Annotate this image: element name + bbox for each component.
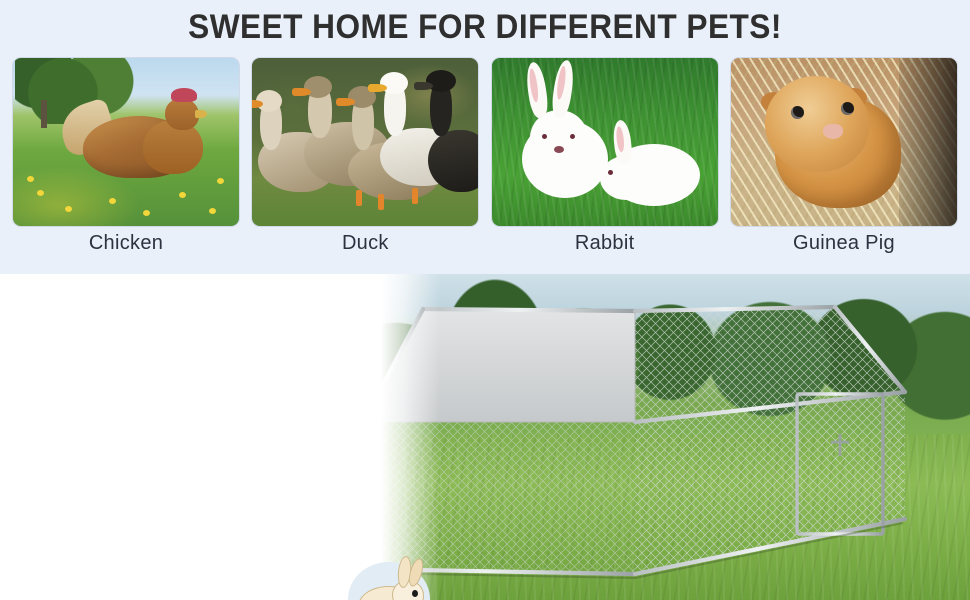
rabbit2-eye <box>608 170 613 175</box>
pet-label-duck: Duck <box>251 232 479 262</box>
tree-trunk <box>41 100 47 128</box>
product-infographic: SWEET HOME FOR DIFFERENT PETS! <box>0 0 970 600</box>
rabbit-ear <box>524 61 550 119</box>
duck-leg <box>412 188 418 204</box>
animal-icon-column <box>330 552 448 600</box>
dandelion <box>27 176 34 182</box>
pet-card-guinea-pig[interactable] <box>730 57 958 227</box>
guinea-pig-nose <box>823 124 843 139</box>
rabbit-photo <box>492 58 718 226</box>
hen-beak <box>195 110 207 118</box>
dandelion <box>143 210 150 216</box>
guinea-pig-eye <box>841 102 854 115</box>
pet-card-duck[interactable] <box>251 57 479 227</box>
guinea-pig-eye <box>791 106 804 119</box>
pet-label-rabbit: Rabbit <box>491 232 719 262</box>
chicken-photo <box>13 58 239 226</box>
dandelion <box>37 190 44 196</box>
pet-card-rabbit[interactable] <box>491 57 719 227</box>
duck-leg <box>356 190 362 206</box>
dandelion <box>209 208 216 214</box>
rabbit-eye <box>542 134 547 139</box>
dandelion <box>217 178 224 184</box>
guinea-pig-head <box>765 76 869 172</box>
duck-photo <box>252 58 478 226</box>
pet-label-guinea-pig: Guinea Pig <box>730 232 958 262</box>
rabbit-icon <box>340 558 436 600</box>
dandelion <box>65 206 72 212</box>
guinea-pig-photo <box>731 58 957 226</box>
duck-leg <box>378 194 384 210</box>
rabbit-head <box>530 110 588 166</box>
shadow-overlay <box>899 58 957 227</box>
hen-head <box>165 98 199 130</box>
package-panel: THE PACKAGE IS DIVIDED INTO 3 BOXES <box>0 274 970 600</box>
pet-card-chicken[interactable] <box>12 57 240 227</box>
pets-panel: SWEET HOME FOR DIFFERENT PETS! <box>0 0 970 274</box>
rabbit-nose <box>554 146 564 153</box>
page-title: SWEET HOME FOR DIFFERENT PETS! <box>34 8 936 47</box>
pet-label-row: Chicken Duck Rabbit Guinea Pig <box>12 232 958 262</box>
pet-label-chicken: Chicken <box>12 232 240 262</box>
rabbit-eye <box>570 134 575 139</box>
dandelion <box>109 198 116 204</box>
dandelion <box>179 192 186 198</box>
hen-comb <box>171 88 197 102</box>
rabbit-ear <box>550 59 576 119</box>
pet-photo-row <box>12 57 958 227</box>
